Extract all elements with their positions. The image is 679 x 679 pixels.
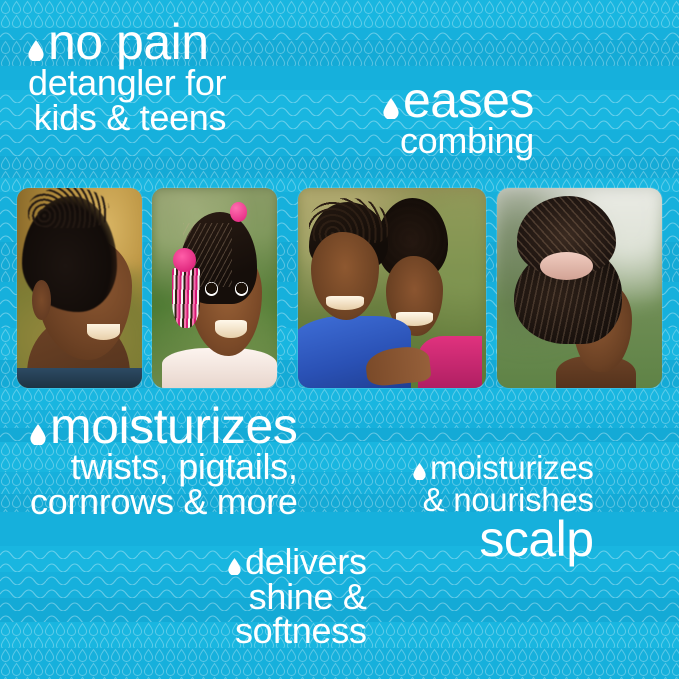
claim-line: kids & teens — [28, 101, 226, 136]
claim-line: scalp — [413, 515, 594, 563]
claim-line: combing — [383, 124, 534, 159]
photo-two-kids — [298, 188, 486, 388]
product-benefits-poster: no pain detangler for kids & teens eases… — [0, 0, 679, 679]
background-band-drops — [0, 648, 679, 679]
water-droplet-icon — [28, 40, 44, 61]
water-droplet-icon — [30, 424, 46, 445]
claim-line: detangler for — [28, 66, 226, 101]
water-droplet-icon — [383, 98, 399, 119]
claim-line: softness — [228, 614, 367, 649]
photo-toddler-girl-beads — [152, 188, 277, 388]
photo-strip — [0, 188, 679, 388]
photo-teen-boy — [17, 188, 142, 388]
claim-line: shine & — [228, 580, 367, 615]
claim-moisturizes-styles: moisturizes twists, pigtails, cornrows &… — [30, 402, 298, 519]
water-droplet-icon — [413, 463, 426, 480]
claim-line: twists, pigtails, — [30, 450, 298, 485]
photo-girl-twist-bun — [497, 188, 662, 388]
claim-line: cornrows & more — [30, 485, 298, 520]
claim-eases-combing: eases combing — [383, 76, 534, 159]
claim-no-pain: no pain detangler for kids & teens — [28, 18, 226, 135]
claim-moisturizes-scalp: moisturizes & nourishes scalp — [413, 452, 594, 563]
claim-delivers-shine: delivers shine & softness — [228, 545, 367, 649]
water-droplet-icon — [228, 558, 241, 575]
background-band-drops — [0, 156, 679, 178]
